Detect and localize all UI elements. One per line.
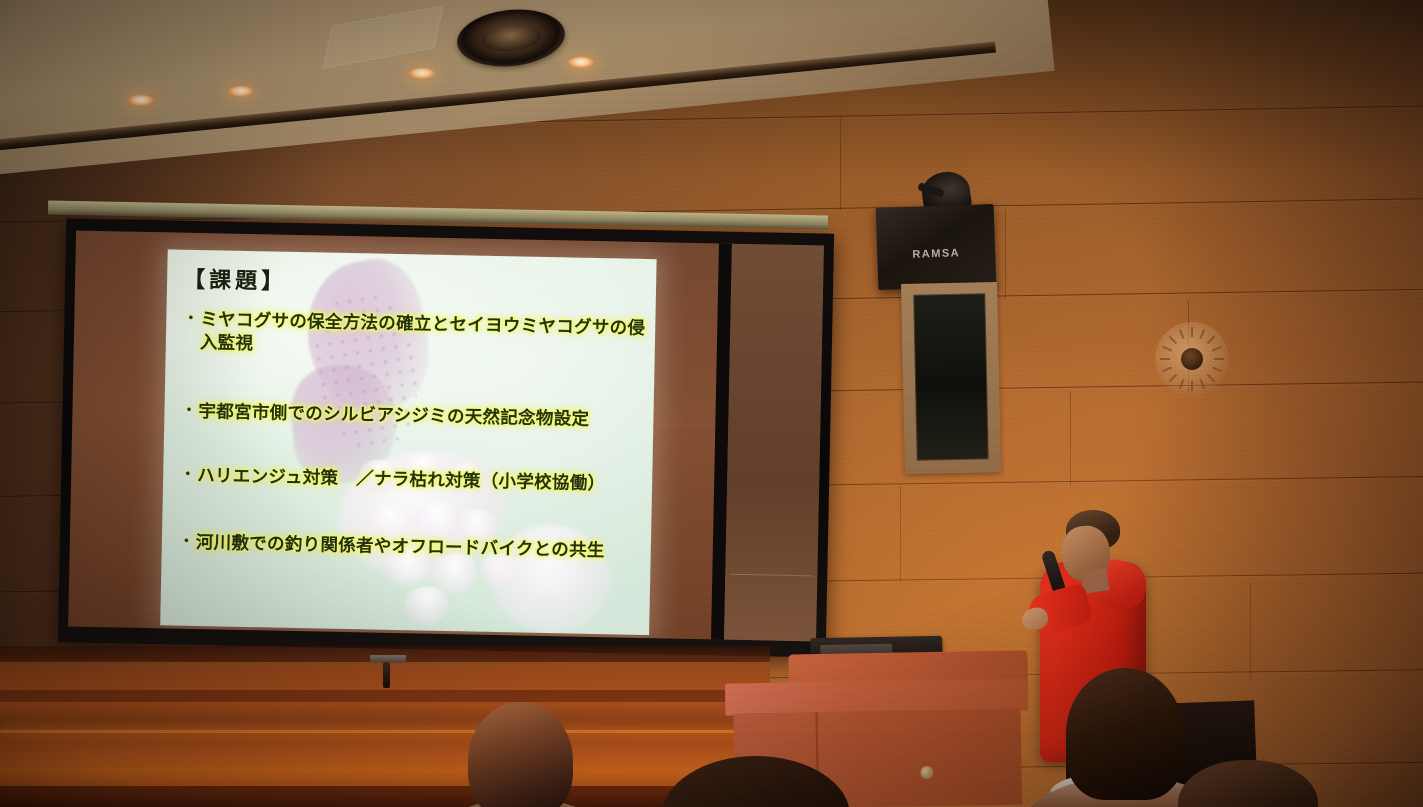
audience-member-far-right bbox=[1178, 760, 1318, 807]
wall-loudspeaker: RAMSA bbox=[876, 204, 997, 290]
audience-member-front-left bbox=[468, 702, 573, 807]
audience-head bbox=[1066, 668, 1184, 800]
downlight-icon-3 bbox=[409, 68, 435, 79]
clock-tick bbox=[1160, 358, 1170, 360]
screen-surface: 【課題】 ・ ミヤコグサの保全方法の確立とセイヨウミヤコグサの侵入監視 ・ 宇都… bbox=[68, 231, 824, 642]
audience-head bbox=[662, 756, 850, 807]
bullet-marker-icon: ・ bbox=[179, 464, 196, 487]
bullet-marker-icon: ・ bbox=[180, 399, 197, 422]
wall-vertical-seam bbox=[900, 486, 901, 582]
clock-tick bbox=[1179, 379, 1185, 389]
projected-slide: 【課題】 ・ ミヤコグサの保全方法の確立とセイヨウミヤコグサの侵入監視 ・ 宇都… bbox=[160, 249, 656, 635]
downlight-icon-2 bbox=[228, 86, 254, 97]
clock-hub-icon bbox=[1181, 348, 1203, 370]
wall-vertical-seam bbox=[1070, 392, 1071, 486]
slide-bullet-2-text: 宇都宮市側でのシルビアシジミの天然記念物設定 bbox=[198, 400, 589, 431]
ceiling-access-panel bbox=[323, 5, 444, 69]
slide-bullet-1: ・ ミヤコグサの保全方法の確立とセイヨウミヤコグサの侵入監視 bbox=[182, 308, 648, 363]
slide-bullet-4: ・ 河川敷での釣り関係者やオフロードバイクとの共生 bbox=[178, 531, 643, 563]
clock-tick bbox=[1191, 381, 1193, 391]
downlight-icon-4 bbox=[568, 57, 594, 68]
speaker-brand-label: RAMSA bbox=[877, 246, 995, 262]
audience-head bbox=[1178, 760, 1318, 807]
clock-tick bbox=[1162, 346, 1172, 352]
clock-tick bbox=[1169, 374, 1177, 382]
clock-tick bbox=[1199, 379, 1205, 389]
clock-tick bbox=[1214, 358, 1224, 360]
stage-shadow-2 bbox=[0, 690, 770, 702]
stage-shadow-3 bbox=[0, 786, 770, 807]
clock-tick bbox=[1212, 366, 1222, 372]
clock-tick bbox=[1207, 374, 1215, 382]
wall-vertical-seam bbox=[1250, 582, 1251, 678]
slide-bullet-1-text: ミヤコグサの保全方法の確立とセイヨウミヤコグサの侵入監視 bbox=[200, 308, 648, 362]
stage-step-lip-1 bbox=[0, 730, 770, 733]
slide-bullet-3-text: ハリエンジュ対策 ／ナラ枯れ対策（小学校協働） bbox=[197, 464, 606, 495]
clock-tick bbox=[1207, 336, 1215, 344]
bullet-marker-icon: ・ bbox=[182, 308, 200, 354]
clock-tick bbox=[1169, 336, 1177, 344]
slide-bullet-2: ・ 宇都宮市側でのシルビアシジミの天然記念物設定 bbox=[180, 399, 645, 431]
slide-bullet-3: ・ ハリエンジュ対策 ／ナラ枯れ対策（小学校協働） bbox=[179, 464, 644, 496]
bullet-marker-icon: ・ bbox=[178, 531, 195, 554]
clock-tick bbox=[1212, 346, 1222, 352]
audience-member-center bbox=[662, 756, 850, 807]
slide-bullet-4-text: 河川敷での釣り関係者やオフロードバイクとの共生 bbox=[196, 531, 605, 562]
clover-floret-10 bbox=[404, 586, 449, 625]
clock-tick bbox=[1162, 366, 1172, 372]
slide-title: 【課題】 bbox=[183, 262, 649, 303]
lecture-hall-scene: 【課題】 ・ ミヤコグサの保全方法の確立とセイヨウミヤコグサの侵入監視 ・ 宇都… bbox=[0, 0, 1423, 807]
audience-member-right bbox=[1066, 668, 1184, 800]
wall-clock-rosette bbox=[1155, 322, 1229, 396]
audience-head bbox=[468, 702, 573, 807]
recessed-wall-window bbox=[901, 282, 1001, 474]
wall-vertical-seam bbox=[1005, 210, 1006, 300]
wall-vertical-seam bbox=[840, 118, 841, 210]
clock-tick bbox=[1179, 329, 1185, 339]
slide-content: 【課題】 ・ ミヤコグサの保全方法の確立とセイヨウミヤコグサの侵入監視 ・ 宇都… bbox=[177, 262, 648, 585]
projection-screen[interactable]: 【課題】 ・ ミヤコグサの保全方法の確立とセイヨウミヤコグサの侵入監視 ・ 宇都… bbox=[58, 218, 834, 657]
window-glass bbox=[913, 293, 988, 460]
clock-tick bbox=[1191, 327, 1193, 337]
stage-microphone-stand bbox=[383, 662, 390, 688]
screen-right-panel bbox=[724, 244, 824, 642]
screen-panel-line bbox=[729, 574, 813, 577]
downlight-icon-1 bbox=[128, 95, 154, 106]
clock-tick bbox=[1199, 329, 1205, 339]
